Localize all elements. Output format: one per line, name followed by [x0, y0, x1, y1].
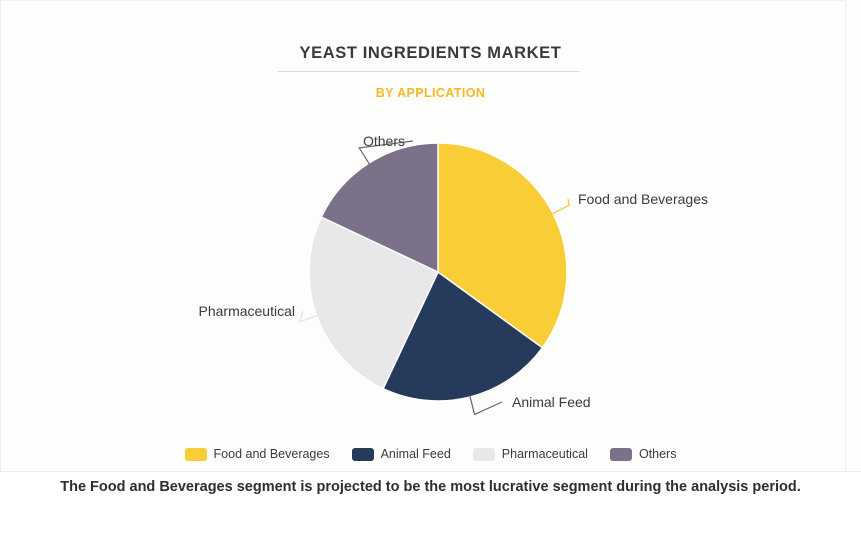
- pie-chart-svg: Food and BeveragesAnimal FeedPharmaceuti…: [0, 0, 861, 470]
- legend-item-label: Pharmaceutical: [502, 447, 588, 461]
- legend-item-label: Animal Feed: [381, 447, 451, 461]
- legend-item-pharmaceutical[interactable]: Pharmaceutical: [473, 447, 588, 461]
- caption-band-lower: [0, 514, 861, 537]
- leader-line: [551, 199, 569, 214]
- pie-slice-label: Pharmaceutical: [199, 303, 296, 319]
- chart-card: YEAST INGREDIENTS MARKET BY APPLICATION …: [0, 0, 861, 537]
- pie-slice-label: Animal Feed: [512, 394, 591, 410]
- legend-item-food-and-beverages[interactable]: Food and Beverages: [185, 447, 330, 461]
- legend-swatch-icon: [473, 448, 495, 461]
- legend-item-others[interactable]: Others: [610, 447, 677, 461]
- legend-swatch-icon: [185, 448, 207, 461]
- chart-legend: Food and Beverages Animal Feed Pharmaceu…: [0, 447, 861, 461]
- legend-item-label: Food and Beverages: [214, 447, 330, 461]
- legend-swatch-icon: [610, 448, 632, 461]
- pie-slice-label: Food and Beverages: [578, 191, 708, 207]
- pie-slice-label: Others: [363, 133, 405, 149]
- legend-item-animal-feed[interactable]: Animal Feed: [352, 447, 451, 461]
- legend-item-label: Others: [639, 447, 677, 461]
- legend-swatch-icon: [352, 448, 374, 461]
- leader-line: [470, 395, 502, 414]
- pie-chart: Food and BeveragesAnimal FeedPharmaceuti…: [0, 0, 861, 470]
- chart-caption: The Food and Beverages segment is projec…: [0, 479, 861, 495]
